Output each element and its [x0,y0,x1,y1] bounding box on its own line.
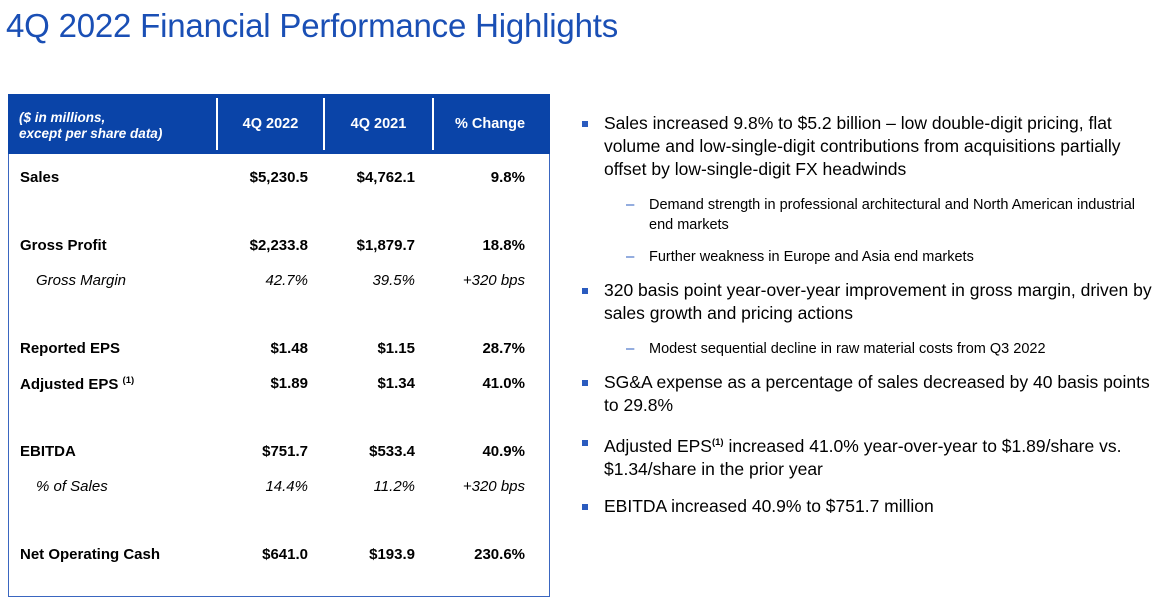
square-bullet-icon [578,431,604,481]
table-row-spacer [9,401,549,434]
row-value-4q2022: 14.4% [216,478,322,495]
footnote-marker: (1) [123,375,135,386]
column-header-4q2021: 4Q 2021 [325,94,432,154]
row-label: Sales [9,169,216,186]
highlight-bullet: Adjusted EPS(1) increased 41.0% year-ove… [578,431,1163,481]
dash-bullet-icon: – [626,195,649,235]
row-value-4q2022: $641.0 [216,546,322,563]
square-bullet-icon [578,371,604,417]
row-value-4q2021: $193.9 [322,546,429,563]
row-value-4q2022: $1.48 [216,340,322,357]
row-label: Reported EPS [9,340,216,357]
highlight-group: 320 basis point year-over-year improveme… [578,279,1163,359]
highlights-list: Sales increased 9.8% to $5.2 billion – l… [578,112,1163,533]
highlight-text: Sales increased 9.8% to $5.2 billion – l… [604,112,1163,181]
row-value-pct-change: 18.8% [429,237,539,254]
row-value-4q2021: $1,879.7 [322,237,429,254]
page-title: 4Q 2022 Financial Performance Highlights [6,4,618,48]
highlight-group: SG&A expense as a percentage of sales de… [578,371,1163,417]
row-value-4q2021: $533.4 [322,443,429,460]
row-value-4q2022: $2,233.8 [216,237,322,254]
dash-bullet-icon: – [626,247,649,267]
row-label: Gross Margin [9,272,216,289]
square-bullet-icon [578,495,604,519]
square-bullet-icon [578,112,604,181]
highlight-subbullet: –Demand strength in professional archite… [578,195,1163,235]
row-value-pct-change: +320 bps [429,478,539,495]
table-row-spacer [9,298,549,331]
table-row: Gross Margin42.7%39.5%+320 bps [9,263,549,298]
column-header-pct-change: % Change [434,94,546,154]
highlight-subbullet-text: Demand strength in professional architec… [649,195,1163,235]
highlight-bullet: EBITDA increased 40.9% to $751.7 million [578,495,1163,519]
table-row-spacer [9,504,549,537]
row-label: % of Sales [9,478,216,495]
row-value-pct-change: 40.9% [429,443,539,460]
table-row: Sales$5,230.5$4,762.19.8% [9,160,549,195]
highlight-subbullet-text: Further weakness in Europe and Asia end … [649,247,1163,267]
table-row: Gross Profit$2,233.8$1,879.718.8% [9,228,549,263]
highlight-text: 320 basis point year-over-year improveme… [604,279,1163,325]
highlight-text: SG&A expense as a percentage of sales de… [604,371,1163,417]
row-value-pct-change: 9.8% [429,169,539,186]
table-body: Sales$5,230.5$4,762.19.8%Gross Profit$2,… [8,154,550,597]
table-header-row: ($ in millions, except per share data) 4… [8,94,550,154]
row-value-4q2021: $1.34 [322,375,429,392]
table-row: EBITDA$751.7$533.440.9% [9,434,549,469]
row-value-pct-change: 230.6% [429,546,539,563]
highlight-subbullet: –Further weakness in Europe and Asia end… [578,247,1163,267]
highlight-text: Adjusted EPS(1) increased 41.0% year-ove… [604,431,1163,481]
row-value-pct-change: +320 bps [429,272,539,289]
caption-line-2: except per share data) [19,126,216,142]
table-row: Adjusted EPS (1)$1.89$1.3441.0% [9,366,549,401]
table-row: % of Sales14.4%11.2%+320 bps [9,469,549,504]
table-row-spacer [9,195,549,228]
row-value-4q2021: 11.2% [322,478,429,495]
highlight-group: Sales increased 9.8% to $5.2 billion – l… [578,112,1163,267]
row-value-4q2021: $1.15 [322,340,429,357]
table-row: Net Operating Cash$641.0$193.9230.6% [9,537,549,572]
table-caption-cell: ($ in millions, except per share data) [8,94,216,154]
row-label: Gross Profit [9,237,216,254]
highlight-text-pre: Adjusted EPS [604,436,712,456]
footnote-marker: (1) [712,437,724,448]
row-value-4q2021: 39.5% [322,272,429,289]
row-label: Adjusted EPS (1) [9,375,216,393]
row-value-4q2022: 42.7% [216,272,322,289]
row-label: EBITDA [9,443,216,460]
row-value-4q2021: $4,762.1 [322,169,429,186]
highlight-subbullet-text: Modest sequential decline in raw materia… [649,339,1163,359]
row-value-4q2022: $1.89 [216,375,322,392]
square-bullet-icon [578,279,604,325]
highlight-group: Adjusted EPS(1) increased 41.0% year-ove… [578,431,1163,481]
row-value-pct-change: 28.7% [429,340,539,357]
table-row: Reported EPS$1.48$1.1528.7% [9,331,549,366]
row-value-4q2022: $5,230.5 [216,169,322,186]
column-header-4q2022: 4Q 2022 [218,94,323,154]
highlight-subbullet: –Modest sequential decline in raw materi… [578,339,1163,359]
caption-line-1: ($ in millions, [19,110,216,126]
highlight-bullet: Sales increased 9.8% to $5.2 billion – l… [578,112,1163,181]
row-label: Net Operating Cash [9,546,216,563]
highlight-bullet: 320 basis point year-over-year improveme… [578,279,1163,325]
row-value-4q2022: $751.7 [216,443,322,460]
highlight-bullet: SG&A expense as a percentage of sales de… [578,371,1163,417]
row-value-pct-change: 41.0% [429,375,539,392]
highlight-group: EBITDA increased 40.9% to $751.7 million [578,495,1163,519]
dash-bullet-icon: – [626,339,649,359]
financial-metrics-table: ($ in millions, except per share data) 4… [8,94,550,597]
highlight-text: EBITDA increased 40.9% to $751.7 million [604,495,1163,519]
